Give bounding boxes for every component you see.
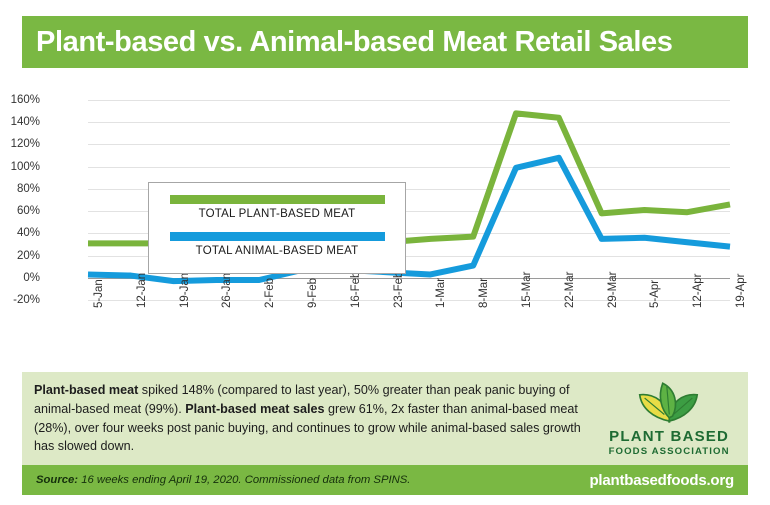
chart-legend: TOTAL PLANT-BASED MEAT TOTAL ANIMAL-BASE… (148, 182, 406, 274)
source-label: Source: (36, 474, 78, 486)
y-tick-label: 60% (0, 205, 40, 217)
y-tick-label: 140% (0, 116, 40, 128)
summary-text: Plant-based meat spiked 148% (compared t… (22, 381, 586, 456)
website-link[interactable]: plantbasedfoods.org (589, 472, 734, 489)
x-tick-label: 19-Apr (735, 273, 747, 308)
x-tick-label: 1-Mar (435, 278, 447, 308)
x-tick-label: 12-Apr (692, 273, 704, 308)
y-tick-label: 80% (0, 183, 40, 195)
x-tick-label: 9-Feb (307, 278, 319, 308)
x-tick-label: 2-Feb (264, 278, 276, 308)
summary-panel: Plant-based meat spiked 148% (compared t… (22, 372, 748, 465)
y-tick-label: -20% (0, 294, 40, 306)
source-bar: Source: 16 weeks ending April 19, 2020. … (22, 465, 748, 495)
y-tick-label: 120% (0, 138, 40, 150)
y-tick-label: 100% (0, 161, 40, 173)
source-detail: 16 weeks ending April 19, 2020. Commissi… (78, 474, 410, 486)
legend-swatch-plant-icon (170, 195, 385, 204)
summary-emphasis: Plant-based meat sales (185, 402, 324, 416)
y-tick-label: 40% (0, 227, 40, 239)
x-tick-label: 23-Feb (393, 272, 405, 308)
x-tick-label: 19-Jan (179, 273, 191, 308)
title-bar: Plant-based vs. Animal-based Meat Retail… (22, 16, 748, 68)
summary-emphasis: Plant-based meat (34, 383, 138, 397)
x-tick-label: 29-Mar (607, 272, 619, 308)
x-tick-label: 12-Jan (136, 273, 148, 308)
leaves-icon (620, 380, 719, 426)
legend-entry-animal: TOTAL ANIMAL-BASED MEAT (149, 232, 405, 257)
page-title: Plant-based vs. Animal-based Meat Retail… (22, 26, 672, 59)
x-tick-label: 5-Jan (93, 279, 105, 308)
y-tick-label: 20% (0, 250, 40, 262)
x-tick-label: 5-Apr (649, 280, 661, 308)
logo-line-2: FOODS ASSOCIATION (590, 446, 748, 457)
legend-swatch-animal-icon (170, 232, 385, 241)
x-tick-label: 15-Mar (521, 272, 533, 308)
pbfa-logo: PLANT BASED FOODS ASSOCIATION (590, 380, 748, 457)
x-tick-label: 8-Mar (478, 278, 490, 308)
legend-label-plant: TOTAL PLANT-BASED MEAT (149, 208, 405, 220)
source-note: Source: 16 weeks ending April 19, 2020. … (36, 474, 410, 486)
logo-line-1: PLANT BASED (590, 428, 748, 445)
y-tick-label: 160% (0, 94, 40, 106)
chart-container: 160%140%120%100%80%60%40%20%0%-20% 5-Jan… (0, 80, 770, 360)
legend-label-animal: TOTAL ANIMAL-BASED MEAT (149, 245, 405, 257)
x-tick-label: 26-Jan (221, 273, 233, 308)
x-tick-label: 16-Feb (350, 272, 362, 308)
y-tick-label: 0% (0, 272, 40, 284)
legend-entry-plant: TOTAL PLANT-BASED MEAT (149, 195, 405, 220)
x-tick-label: 22-Mar (564, 272, 576, 308)
